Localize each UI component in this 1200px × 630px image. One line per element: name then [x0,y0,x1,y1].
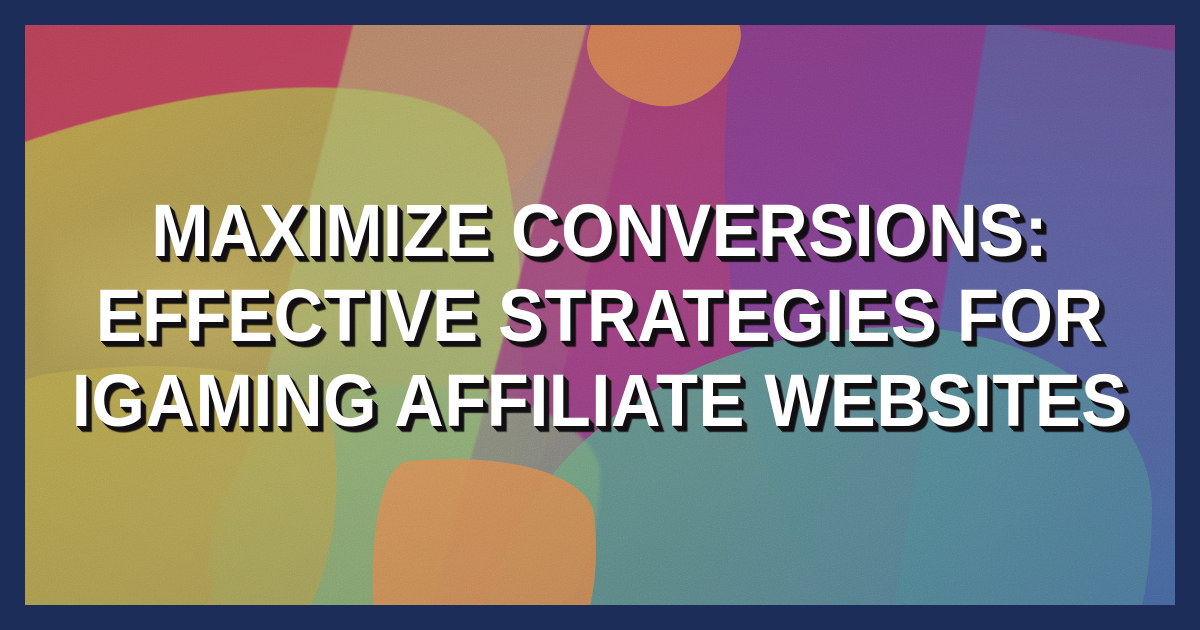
headline-line-1: MAXIMIZE CONVERSIONS: [72,188,1128,273]
headline-line-3: IGAMING AFFILIATE WEBSITES [72,358,1128,443]
headline-container: MAXIMIZE CONVERSIONS: EFFECTIVE STRATEGI… [0,0,1200,630]
page-title: MAXIMIZE CONVERSIONS: EFFECTIVE STRATEGI… [72,188,1128,443]
headline-line-2: EFFECTIVE STRATEGIES FOR [72,273,1128,358]
social-share-card: MAXIMIZE CONVERSIONS: EFFECTIVE STRATEGI… [0,0,1200,630]
